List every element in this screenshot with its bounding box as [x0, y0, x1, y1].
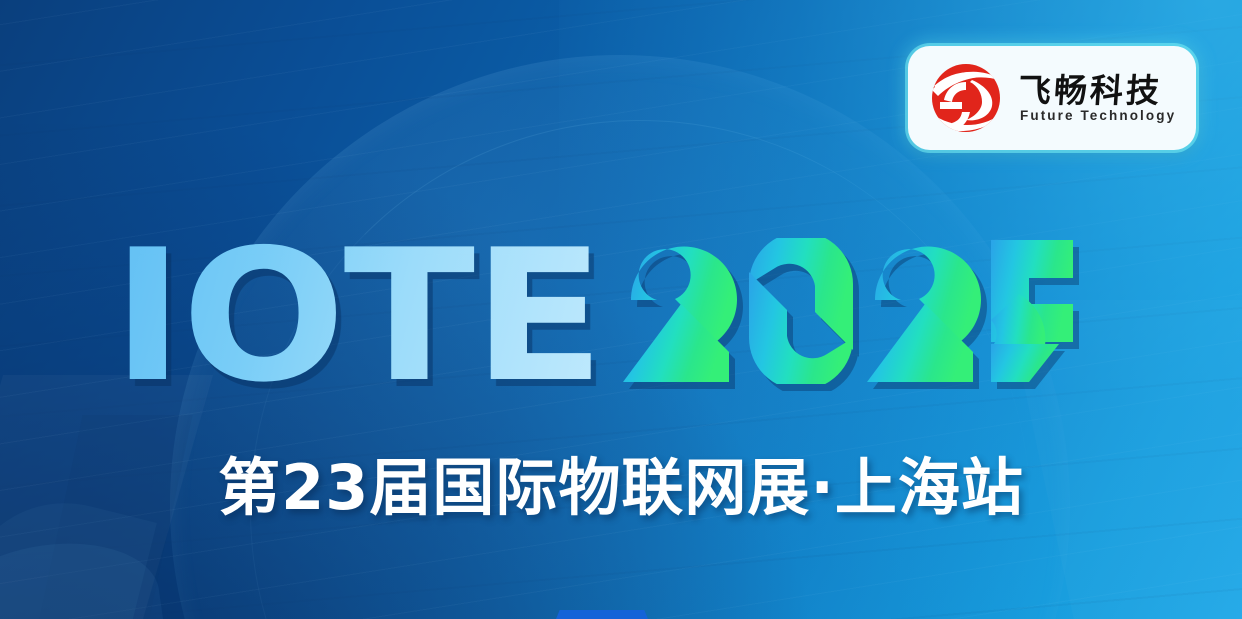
brand-text-iote: IOTE: [112, 238, 603, 395]
iote-2025-banner: 飞畅科技 Future Technology IOTE: [0, 0, 1242, 619]
wordmark-block: IOTE: [0, 238, 1242, 398]
year-text-2025: [619, 238, 1079, 384]
company-logo-text: 飞畅科技 Future Technology: [1018, 74, 1176, 123]
year-2025-glyphs: [619, 238, 1079, 384]
feichang-red-globe-logo-icon: [924, 60, 1008, 136]
company-logo-badge[interactable]: 飞畅科技 Future Technology: [908, 46, 1196, 150]
company-name-cn: 飞畅科技: [1017, 74, 1178, 107]
bottom-accent-tab: [556, 610, 648, 619]
event-subtitle: 第23届国际物联网展·上海站: [0, 452, 1242, 523]
company-name-en: Future Technology: [1018, 109, 1176, 123]
